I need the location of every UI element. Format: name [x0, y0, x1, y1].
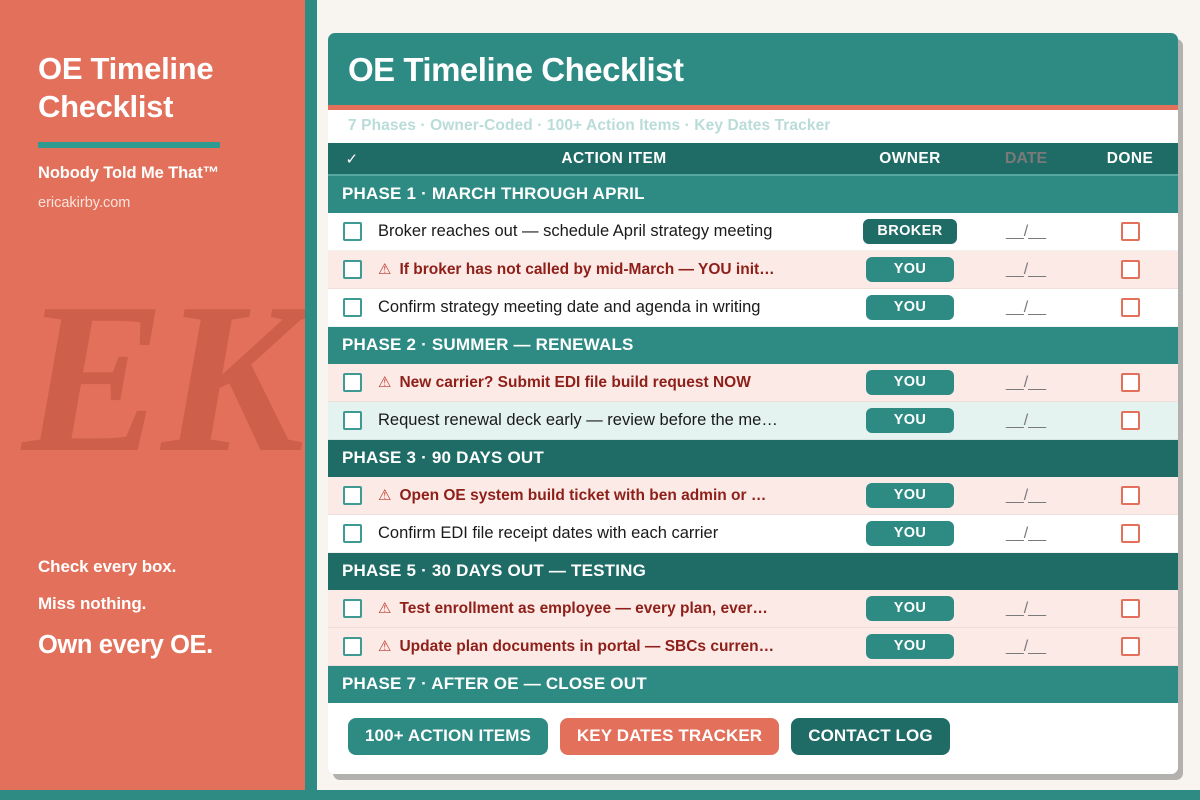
row-date-field[interactable]: __/__: [970, 412, 1082, 430]
table-row[interactable]: Broker reaches out — schedule April stra…: [328, 213, 1178, 251]
footer-button[interactable]: KEY DATES TRACKER: [560, 718, 779, 755]
row-check-cell: [328, 599, 376, 618]
ek-monogram-watermark: EK: [22, 270, 301, 485]
table-row[interactable]: ⚠Test enrollment as employee — every pla…: [328, 590, 1178, 628]
phase-header: PHASE 3 · 90 DAYS OUT: [328, 440, 1178, 477]
row-done-cell: [1082, 637, 1178, 656]
card-header: OE Timeline Checklist: [328, 33, 1178, 105]
row-done-cell: [1082, 373, 1178, 392]
row-action-item-cell: ⚠Open OE system build ticket with ben ad…: [376, 487, 850, 505]
column-header-check: ✓: [328, 150, 376, 168]
row-owner-cell: YOU: [850, 295, 970, 320]
table-row[interactable]: ⚠Update plan documents in portal — SBCs …: [328, 628, 1178, 666]
row-owner-cell: YOU: [850, 483, 970, 508]
row-check-cell: [328, 373, 376, 392]
action-item-text: Confirm EDI file receipt dates with each…: [378, 524, 718, 543]
row-action-item-cell: ⚠Update plan documents in portal — SBCs …: [376, 638, 850, 656]
owner-badge: YOU: [866, 634, 954, 659]
row-check-cell: [328, 411, 376, 430]
closing-line-2: Miss nothing.: [38, 594, 298, 614]
row-check-cell: [328, 524, 376, 543]
checkbox-icon[interactable]: [343, 373, 362, 392]
owner-badge: YOU: [866, 370, 954, 395]
sidebar-title-rule: [38, 142, 220, 148]
checkbox-icon[interactable]: [343, 637, 362, 656]
vertical-divider: [305, 0, 317, 790]
owner-badge: YOU: [866, 596, 954, 621]
done-checkbox-icon[interactable]: [1121, 222, 1140, 241]
row-action-item-cell: ⚠If broker has not called by mid-March —…: [376, 261, 850, 279]
column-header-action-item: ACTION ITEM: [376, 150, 850, 168]
checkbox-icon[interactable]: [343, 599, 362, 618]
action-item-text: Test enrollment as employee — every plan…: [399, 600, 767, 618]
column-header-date: DATE: [970, 150, 1082, 168]
row-date-field[interactable]: __/__: [970, 374, 1082, 392]
row-check-cell: [328, 222, 376, 241]
done-checkbox-icon[interactable]: [1121, 260, 1140, 279]
row-done-cell: [1082, 411, 1178, 430]
sidebar-title: OE Timeline Checklist: [38, 50, 288, 126]
row-done-cell: [1082, 524, 1178, 543]
warning-triangle-icon: ⚠: [378, 262, 391, 277]
row-check-cell: [328, 486, 376, 505]
column-header-owner: OWNER: [850, 150, 970, 168]
table-column-header: ✓ ACTION ITEM OWNER DATE DONE: [328, 143, 1178, 176]
action-item-text: Confirm strategy meeting date and agenda…: [378, 298, 760, 317]
row-owner-cell: YOU: [850, 521, 970, 546]
closing-line-1: Check every box.: [38, 557, 298, 577]
row-owner-cell: YOU: [850, 370, 970, 395]
done-checkbox-icon[interactable]: [1121, 599, 1140, 618]
warning-triangle-icon: ⚠: [378, 375, 391, 390]
row-date-field[interactable]: __/__: [970, 261, 1082, 279]
sidebar-header-block: OE Timeline Checklist Nobody Told Me Tha…: [38, 50, 288, 211]
checkbox-icon[interactable]: [343, 486, 362, 505]
footer-button[interactable]: CONTACT LOG: [791, 718, 950, 755]
checkbox-icon[interactable]: [343, 222, 362, 241]
phase-header: PHASE 2 · SUMMER — RENEWALS: [328, 327, 1178, 364]
row-date-field[interactable]: __/__: [970, 600, 1082, 618]
owner-badge: YOU: [866, 408, 954, 433]
warning-triangle-icon: ⚠: [378, 601, 391, 616]
table-row[interactable]: ⚠If broker has not called by mid-March —…: [328, 251, 1178, 289]
checklist-table-body: PHASE 1 · MARCH THROUGH APRILBroker reac…: [328, 176, 1178, 703]
warning-triangle-icon: ⚠: [378, 639, 391, 654]
row-date-field[interactable]: __/__: [970, 638, 1082, 656]
done-checkbox-icon[interactable]: [1121, 298, 1140, 317]
row-date-field[interactable]: __/__: [970, 487, 1082, 505]
sidebar-tagline: Nobody Told Me That™: [38, 164, 288, 183]
checklist-card: OE Timeline Checklist 7 Phases · Owner-C…: [328, 33, 1178, 774]
row-date-field[interactable]: __/__: [970, 223, 1082, 241]
row-owner-cell: YOU: [850, 634, 970, 659]
phase-header: PHASE 7 · AFTER OE — CLOSE OUT: [328, 666, 1178, 703]
checkbox-icon[interactable]: [343, 260, 362, 279]
phase-header: PHASE 1 · MARCH THROUGH APRIL: [328, 176, 1178, 213]
row-done-cell: [1082, 298, 1178, 317]
row-action-item-cell: Confirm EDI file receipt dates with each…: [376, 524, 850, 543]
warning-triangle-icon: ⚠: [378, 488, 391, 503]
owner-badge: YOU: [866, 521, 954, 546]
card-footer-buttons: 100+ ACTION ITEMSKEY DATES TRACKERCONTAC…: [328, 703, 1178, 774]
sidebar-website-url: ericakirby.com: [38, 195, 288, 211]
action-item-text: Broker reaches out — schedule April stra…: [378, 222, 772, 241]
closing-line-strong: Own every OE.: [38, 631, 298, 660]
brand-sidebar: EK OE Timeline Checklist Nobody Told Me …: [0, 0, 305, 790]
owner-badge: YOU: [866, 295, 954, 320]
footer-button[interactable]: 100+ ACTION ITEMS: [348, 718, 548, 755]
action-item-text: Request renewal deck early — review befo…: [378, 411, 778, 430]
row-check-cell: [328, 637, 376, 656]
row-done-cell: [1082, 599, 1178, 618]
action-item-text: If broker has not called by mid-March — …: [399, 261, 774, 279]
sidebar-closing-block: Check every box. Miss nothing. Own every…: [38, 557, 298, 660]
row-action-item-cell: ⚠New carrier? Submit EDI file build requ…: [376, 374, 850, 392]
action-item-text: New carrier? Submit EDI file build reque…: [399, 374, 750, 392]
card-subtitle: 7 Phases · Owner-Coded · 100+ Action Ite…: [328, 110, 1178, 143]
table-row[interactable]: Request renewal deck early — review befo…: [328, 402, 1178, 440]
done-checkbox-icon[interactable]: [1121, 524, 1140, 543]
table-row[interactable]: ⚠New carrier? Submit EDI file build requ…: [328, 364, 1178, 402]
row-owner-cell: YOU: [850, 408, 970, 433]
column-header-done: DONE: [1082, 150, 1178, 168]
row-action-item-cell: Request renewal deck early — review befo…: [376, 411, 850, 430]
done-checkbox-icon[interactable]: [1121, 486, 1140, 505]
row-action-item-cell: Confirm strategy meeting date and agenda…: [376, 298, 850, 317]
done-checkbox-icon[interactable]: [1121, 637, 1140, 656]
owner-badge: BROKER: [863, 219, 956, 244]
content-area: OE Timeline Checklist 7 Phases · Owner-C…: [317, 0, 1200, 790]
checkbox-icon[interactable]: [343, 411, 362, 430]
card-title: OE Timeline Checklist: [348, 53, 1156, 86]
table-row[interactable]: Confirm strategy meeting date and agenda…: [328, 289, 1178, 327]
action-item-text: Open OE system build ticket with ben adm…: [399, 487, 766, 505]
done-checkbox-icon[interactable]: [1121, 373, 1140, 392]
owner-badge: YOU: [866, 257, 954, 282]
phase-header: PHASE 5 · 30 DAYS OUT — TESTING: [328, 553, 1178, 590]
row-owner-cell: BROKER: [850, 219, 970, 244]
bottom-accent-strip: [0, 790, 1200, 800]
done-checkbox-icon[interactable]: [1121, 411, 1140, 430]
row-action-item-cell: Broker reaches out — schedule April stra…: [376, 222, 850, 241]
row-done-cell: [1082, 260, 1178, 279]
row-check-cell: [328, 298, 376, 317]
page-root: EK OE Timeline Checklist Nobody Told Me …: [0, 0, 1200, 800]
row-check-cell: [328, 260, 376, 279]
row-done-cell: [1082, 486, 1178, 505]
checkbox-icon[interactable]: [343, 298, 362, 317]
checkbox-icon[interactable]: [343, 524, 362, 543]
owner-badge: YOU: [866, 483, 954, 508]
table-row[interactable]: ⚠Open OE system build ticket with ben ad…: [328, 477, 1178, 515]
action-item-text: Update plan documents in portal — SBCs c…: [399, 638, 774, 656]
row-owner-cell: YOU: [850, 257, 970, 282]
table-row[interactable]: Confirm EDI file receipt dates with each…: [328, 515, 1178, 553]
row-date-field[interactable]: __/__: [970, 525, 1082, 543]
row-date-field[interactable]: __/__: [970, 299, 1082, 317]
row-action-item-cell: ⚠Test enrollment as employee — every pla…: [376, 600, 850, 618]
row-done-cell: [1082, 222, 1178, 241]
row-owner-cell: YOU: [850, 596, 970, 621]
